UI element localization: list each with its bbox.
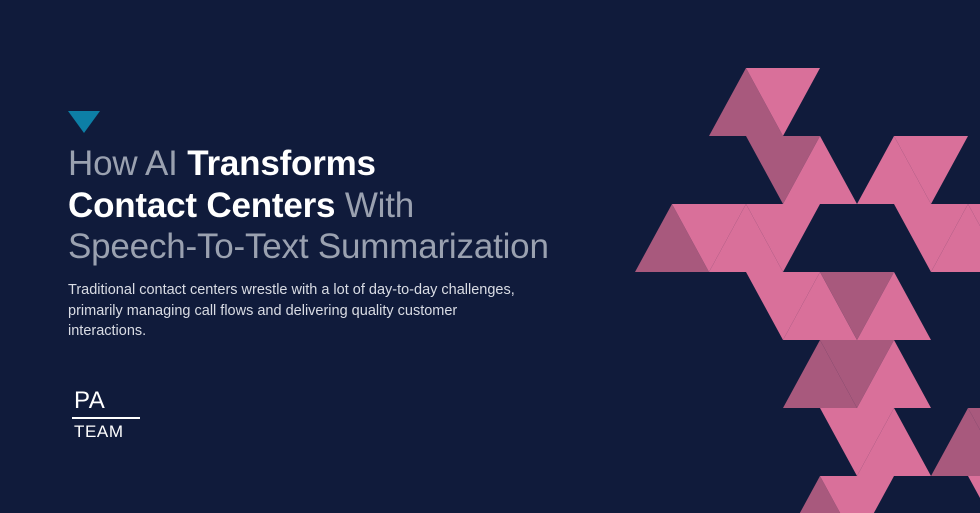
pattern-triangle [931,408,980,476]
headline-line-2-muted: With [335,186,414,225]
headline-line-1-strong: Transforms [187,144,376,183]
headline-line-2-strong: Contact Centers [68,186,335,225]
triangle-pattern-panel [635,0,980,513]
subtitle-paragraph: Traditional contact centers wrestle with… [68,280,518,342]
pattern-triangle [968,476,980,513]
headline-line-1-muted: How AI [68,144,187,183]
content-column: How AI Transforms Contact Centers With S… [68,0,608,513]
headline-line-1: How AI Transforms [68,143,608,185]
brand-logo-bottom-text: TEAM [72,422,144,442]
page-title: How AI Transforms Contact Centers With S… [68,143,608,268]
triangle-pattern-svg [635,0,980,513]
slide-canvas: How AI Transforms Contact Centers With S… [0,0,980,513]
brand-logo: PA TEAM [72,387,144,442]
brand-logo-divider [72,417,140,419]
triangle-down-icon [68,111,100,133]
brand-logo-top-text: PA [72,387,144,414]
headline-line-3: Speech-To-Text Summarization [68,226,608,268]
headline-line-2: Contact Centers With [68,185,608,227]
